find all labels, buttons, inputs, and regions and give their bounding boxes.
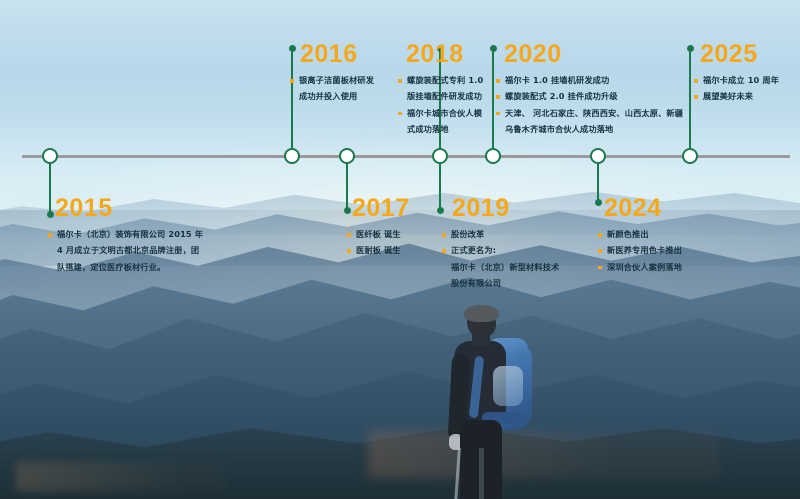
milestone-bullet: 正式更名为: [442,244,572,257]
milestone-bullet-list-2017: 医纤板 诞生医耐板 诞生 [347,228,457,258]
milestone-bullet: 新医养专用色卡推出 [598,244,748,257]
milestone-bullet: 福尔卡 1.0 挂墙机研发成功 [496,74,696,87]
milestone-bullet: 股份改革 [442,228,572,241]
timeline-node-2020[interactable] [485,148,501,164]
milestone-bullet: 深圳合伙人案例落地 [598,261,748,274]
milestone-bullet: 队搭建，定位医疗板材行业。 [48,261,248,274]
milestone-bullet: 螺旋装配式 2.0 挂件成功升级 [496,90,696,103]
milestone-entry-2025[interactable]: 2025福尔卡成立 10 周年展望美好未来 [694,42,800,107]
milestone-entry-2024[interactable]: 2024新颜色推出新医养专用色卡推出深圳合伙人案例落地 [598,196,748,277]
milestone-entry-2015[interactable]: 2015福尔卡（北京）装饰有限公司 2015 年4 月成立于文明古都北京品牌注册… [48,196,248,277]
milestone-year-2016: 2016 [300,42,400,67]
milestone-entry-2020[interactable]: 2020福尔卡 1.0 挂墙机研发成功螺旋装配式 2.0 挂件成功升级天津、 河… [496,42,696,139]
milestone-bullet-list-2015: 福尔卡（北京）装饰有限公司 2015 年4 月成立于文明古都北京品牌注册，团队搭… [48,228,248,274]
timeline-node-2016[interactable] [284,148,300,164]
milestone-bullet: 天津、 河北石家庄、陕西西安、山西太原、新疆 [496,107,696,120]
milestone-bullet-list-2025: 福尔卡成立 10 周年展望美好未来 [694,74,800,104]
timeline-node-2025[interactable] [682,148,698,164]
milestone-bullet: 展望美好未来 [694,90,800,103]
timeline-node-2018[interactable] [432,148,448,164]
milestone-year-2025: 2025 [700,42,800,67]
milestone-bullet: 医耐板 诞生 [347,244,457,257]
milestone-entry-2017[interactable]: 2017医纤板 诞生医耐板 诞生 [347,196,457,261]
milestone-year-2019: 2019 [452,196,572,221]
timeline-node-2017[interactable] [339,148,355,164]
milestone-bullet: 成功并投入使用 [290,90,400,103]
milestone-bullet-list-2020: 福尔卡 1.0 挂墙机研发成功螺旋装配式 2.0 挂件成功升级天津、 河北石家庄… [496,74,696,136]
milestone-year-2015: 2015 [55,196,248,221]
milestone-bullet: 福尔卡（北京）新型材料技术 [442,261,572,274]
timeline-node-2015[interactable] [42,148,58,164]
milestone-bullet: 4 月成立于文明古都北京品牌注册，团 [48,244,248,257]
milestone-bullet-list-2024: 新颜色推出新医养专用色卡推出深圳合伙人案例落地 [598,228,748,274]
milestone-bullet: 新颜色推出 [598,228,748,241]
milestone-bullet: 乌鲁木齐城市合伙人成功落地 [496,123,696,136]
milestone-bullet-list-2019: 股份改革正式更名为:福尔卡（北京）新型材料技术股份有限公司 [442,228,572,290]
milestone-year-2024: 2024 [604,196,748,221]
timeline-node-2024[interactable] [590,148,606,164]
milestone-timeline: 2015福尔卡（北京）装饰有限公司 2015 年4 月成立于文明古都北京品牌注册… [0,0,800,499]
milestone-entry-2016[interactable]: 2016银离子洁菌板材研发成功并投入使用 [290,42,400,107]
milestone-bullet: 医纤板 诞生 [347,228,457,241]
milestone-entry-2019[interactable]: 2019股份改革正式更名为:福尔卡（北京）新型材料技术股份有限公司 [442,196,572,293]
milestone-year-2020: 2020 [504,42,696,67]
milestone-bullet: 福尔卡（北京）装饰有限公司 2015 年 [48,228,248,241]
timeline-axis [22,155,790,158]
milestone-bullet-list-2016: 银离子洁菌板材研发成功并投入使用 [290,74,400,104]
milestone-bullet: 股份有限公司 [442,277,572,290]
milestone-bullet: 银离子洁菌板材研发 [290,74,400,87]
milestone-bullet: 福尔卡成立 10 周年 [694,74,800,87]
